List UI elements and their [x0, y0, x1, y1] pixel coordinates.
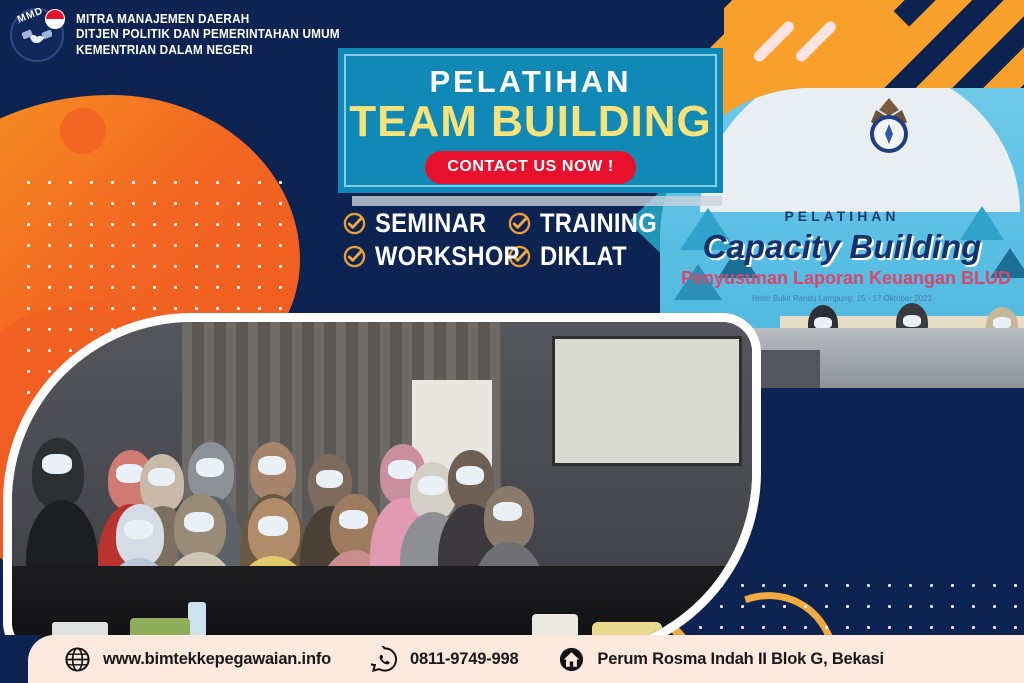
- footer-phone[interactable]: 0811-9749-998: [371, 646, 518, 673]
- hero-title: TEAM BUILDING: [349, 99, 712, 145]
- service-label: TRAINING: [540, 208, 657, 239]
- website-text: www.bimtekkepegawaian.info: [103, 650, 331, 669]
- whatsapp-icon: [371, 646, 398, 673]
- check-circle-icon: [343, 212, 366, 235]
- handshake-icon: [22, 28, 52, 46]
- service-item-diklat: DIKLAT: [508, 241, 683, 272]
- footer-address[interactable]: Perum Rosma Indah II Blok G, Bekasi: [558, 646, 883, 673]
- service-item-workshop: WORKSHOP: [343, 241, 508, 272]
- service-label: SEMINAR: [375, 208, 486, 239]
- check-circle-icon: [343, 245, 366, 268]
- contact-footer: www.bimtekkepegawaian.info 0811-9749-998…: [28, 635, 1024, 683]
- hero-title-panel: PELATIHAN TEAM BUILDING CONTACT US NOW !: [338, 48, 723, 193]
- org-line-2: DITJEN POLITIK DAN PEMERINTAHAN UMUM: [76, 27, 340, 42]
- service-item-seminar: SEMINAR: [343, 208, 508, 239]
- inset-banner-kicker: PELATIHAN: [660, 208, 1024, 224]
- home-icon: [558, 646, 585, 673]
- inset-speakers: [780, 293, 1024, 333]
- indonesia-flag-icon: [45, 9, 65, 29]
- hero-kicker: PELATIHAN: [429, 66, 631, 97]
- organization-name: MITRA MANAJEMEN DAERAH DITJEN POLITIK DA…: [76, 12, 357, 58]
- decor-orange-circle: [60, 108, 106, 154]
- service-label: DIKLAT: [540, 241, 627, 272]
- footer-website[interactable]: www.bimtekkepegawaian.info: [64, 646, 331, 673]
- org-line-3: KEMENTRIAN DALAM NEGERI: [76, 43, 340, 58]
- garuda-emblem-icon: [856, 94, 922, 160]
- service-label: WORKSHOP: [375, 241, 520, 272]
- services-list: SEMINAR TRAINING WORKSHOP DIKLAT: [343, 208, 683, 272]
- service-item-training: TRAINING: [508, 208, 683, 239]
- globe-icon: [64, 646, 91, 673]
- mmd-logo-mark: MMD: [8, 6, 66, 64]
- promotional-banner: MMD MITRA MANAJEMEN DAERAH DITJEN POLITI…: [0, 0, 1024, 683]
- inset-banner-subtitle: Penyusunan Laporan Keuangan BLUD: [668, 268, 1024, 289]
- phone-text: 0811-9749-998: [410, 650, 518, 669]
- org-line-1: MITRA MANAJEMEN DAERAH: [76, 12, 340, 27]
- address-text: Perum Rosma Indah II Blok G, Bekasi: [597, 650, 883, 669]
- check-circle-icon: [508, 212, 531, 235]
- contact-us-button[interactable]: CONTACT US NOW !: [425, 151, 636, 184]
- inset-banner-title: Capacity Building: [660, 228, 1024, 266]
- brand-logo-block: MMD MITRA MANAJEMEN DAERAH DITJEN POLITI…: [8, 6, 357, 64]
- title-panel-shadow: [352, 196, 722, 206]
- main-group-photo: [12, 322, 752, 652]
